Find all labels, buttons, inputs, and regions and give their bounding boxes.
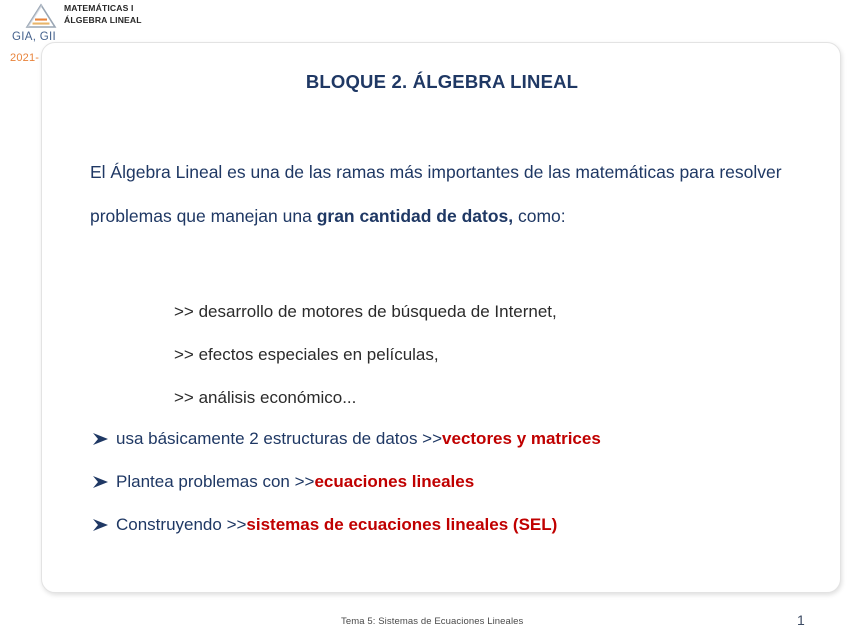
- arrowhead-bullet-icon: [92, 432, 116, 446]
- footer-note: Tema 5: Sistemas de Ecuaciones Lineales: [341, 616, 523, 627]
- footer-page-number: 1: [797, 612, 805, 628]
- intro-text-part-2: como:: [513, 206, 566, 226]
- brand-line-2: ÁLGEBRA LINEAL: [64, 15, 142, 27]
- sub-item-search-engines: >> desarrollo de motores de búsqueda de …: [174, 302, 557, 322]
- intro-text-bold: gran cantidad de datos,: [317, 206, 513, 226]
- arrow-item-emphasis-text: ecuaciones lineales: [314, 472, 474, 492]
- arrowhead-bullet-icon: [92, 475, 116, 489]
- header-band: MATEMÁTICAS I ÁLGEBRA LINEAL GIA, GII 20…: [0, 0, 848, 42]
- intro-paragraph: El Álgebra Lineal es una de las ramas má…: [90, 150, 800, 238]
- arrow-item-sel: Construyendo >> sistemas de ecuaciones l…: [92, 515, 557, 535]
- brand-text: MATEMÁTICAS I ÁLGEBRA LINEAL: [64, 3, 142, 26]
- course-code: GIA, GII: [12, 31, 56, 43]
- arrow-item-emphasis-text: vectores y matrices: [442, 429, 601, 449]
- mountain-triangle-logo-icon: [24, 3, 58, 29]
- arrow-item-lead-text: usa básicamente 2 estructuras de datos >…: [116, 429, 442, 449]
- brand-line-1: MATEMÁTICAS I: [64, 3, 142, 15]
- arrow-item-data-structures: usa básicamente 2 estructuras de datos >…: [92, 429, 601, 449]
- arrow-item-lead-text: Plantea problemas con >>: [116, 472, 314, 492]
- slide-title: BLOQUE 2. ÁLGEBRA LINEAL: [42, 71, 842, 93]
- arrow-item-lead-text: Construyendo >>: [116, 515, 246, 535]
- slide-card: BLOQUE 2. ÁLGEBRA LINEAL El Álgebra Line…: [41, 42, 841, 593]
- sub-item-special-effects: >> efectos especiales en películas,: [174, 345, 439, 365]
- sub-item-economic-analysis: >> análisis económico...: [174, 388, 356, 408]
- arrow-item-linear-equations: Plantea problemas con >> ecuaciones line…: [92, 472, 474, 492]
- arrowhead-bullet-icon: [92, 518, 116, 532]
- arrow-item-emphasis-text: sistemas de ecuaciones lineales (SEL): [246, 515, 557, 535]
